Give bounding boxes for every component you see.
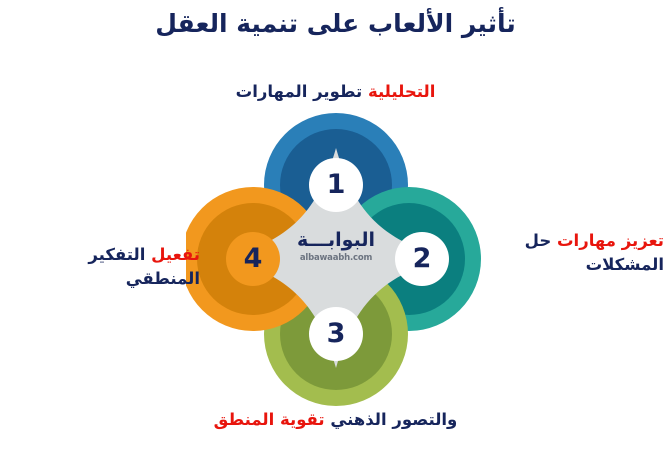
label-petal-2: تعزيز مهارات حل المشكلات (496, 229, 664, 277)
petal-number-1[interactable]: 1 (309, 158, 363, 212)
label-petal-3-text: والتصور الذهني (330, 410, 457, 429)
petal-number-4-value: 4 (244, 245, 263, 272)
label-petal-1-text: تطوير المهارات (236, 82, 363, 101)
petal-number-3[interactable]: 3 (309, 307, 363, 361)
label-petal-4-highlight: تفعيل (151, 245, 200, 264)
petal-number-3-value: 3 (327, 320, 346, 347)
petal-number-1-value: 1 (327, 171, 346, 198)
label-petal-3-highlight: تقوية المنطق (214, 410, 325, 429)
label-petal-1-highlight: التحليلية (368, 82, 435, 101)
page-title: تأثير الألعاب على تنمية العقل (0, 8, 671, 40)
infographic-canvas: تأثير الألعاب على تنمية العقل (0, 0, 671, 450)
label-petal-4: تفعيل التفكير المنطقي (10, 243, 200, 291)
label-petal-1: التحليلية تطوير المهارات (0, 80, 671, 104)
label-petal-3: والتصور الذهني تقوية المنطق (0, 408, 671, 432)
flower-diagram: 1 2 3 4 البوابـــة albawaabh.com (186, 108, 486, 408)
label-petal-2-highlight: تعزيز مهارات (557, 231, 664, 250)
petal-number-2[interactable]: 2 (395, 232, 449, 286)
petal-number-2-value: 2 (413, 245, 432, 272)
petal-number-4[interactable]: 4 (226, 232, 280, 286)
